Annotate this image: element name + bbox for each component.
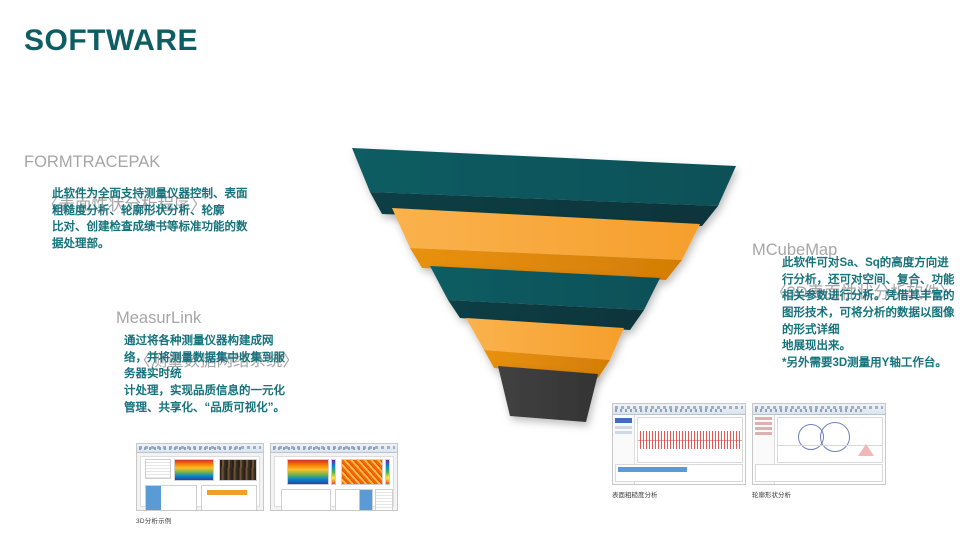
color-scale-bar-1	[331, 459, 336, 485]
page-title: SOFTWARE	[24, 24, 198, 58]
funnel-base-block	[498, 366, 598, 422]
thumbnail-caption-contour-shape: 轮廓形状分析	[752, 489, 886, 499]
product-description-measurlink: 通过将各种测量仪器构建成网络，并将测量数据集中收集到服务器实时统 计处理，实现品…	[124, 333, 286, 416]
results-panel	[615, 464, 743, 482]
app-canvas	[137, 453, 263, 510]
texture-image	[219, 459, 257, 481]
product-description-formtracepak: 此软件为全面支持测量仪器控制、表面粗糙度分析、轮廓形状分析、轮廓 比对、创建检查…	[52, 186, 252, 253]
results-panel	[755, 464, 883, 482]
product-name-measurlink: MeasurLink	[116, 308, 299, 330]
app-toolbar	[753, 404, 885, 415]
product-description-mcubemap: 此软件可对Sa、Sq的高度方向进行分析，还可对空间、复合、功能相关参数进行分析。…	[782, 255, 960, 372]
app-canvas	[271, 453, 397, 510]
3d-analysis-screenshot-2[interactable]	[270, 443, 398, 511]
app-canvas	[613, 415, 745, 484]
thumbnail-group-3d-analysis: 3D分析示例	[136, 443, 398, 525]
app-toolbar	[271, 444, 397, 453]
texture-image	[341, 459, 383, 485]
profile-bar	[207, 490, 247, 495]
parameters-table	[375, 489, 393, 511]
histogram-chart	[145, 485, 197, 511]
funnel-band-orange-2	[466, 318, 624, 378]
profile-chart	[201, 485, 257, 511]
3d-analysis-screenshot-1[interactable]	[136, 443, 264, 511]
document-page	[140, 456, 260, 507]
rainbow-surface-map	[174, 459, 214, 481]
app-toolbar	[613, 404, 745, 415]
thumbnail-group-formtracepak: 表面粗糙度分析 轮廓形状分析	[612, 403, 886, 499]
histogram-chart	[335, 489, 373, 511]
surface-roughness-screenshot[interactable]	[612, 403, 746, 485]
thumbnail-caption-surface-roughness: 表面粗糙度分析	[612, 489, 746, 499]
slide-root: SOFTWARE	[0, 0, 960, 540]
thumbnail-caption-3d-analysis: 3D分析示例	[136, 515, 398, 525]
legend-table	[145, 459, 171, 479]
product-name-formtracepak: FORMTRACEPAK	[24, 152, 207, 174]
contour-geometry-chart	[777, 417, 883, 463]
color-scale-bar-2	[385, 459, 390, 485]
rainbow-surface-map	[287, 459, 329, 485]
funnel-diagram	[330, 138, 750, 448]
polar-gauge-chart	[281, 489, 331, 511]
document-page	[274, 456, 394, 507]
contour-shape-screenshot[interactable]	[752, 403, 886, 485]
roughness-profile-chart	[637, 417, 743, 463]
app-canvas	[753, 415, 885, 484]
app-toolbar	[137, 444, 263, 453]
